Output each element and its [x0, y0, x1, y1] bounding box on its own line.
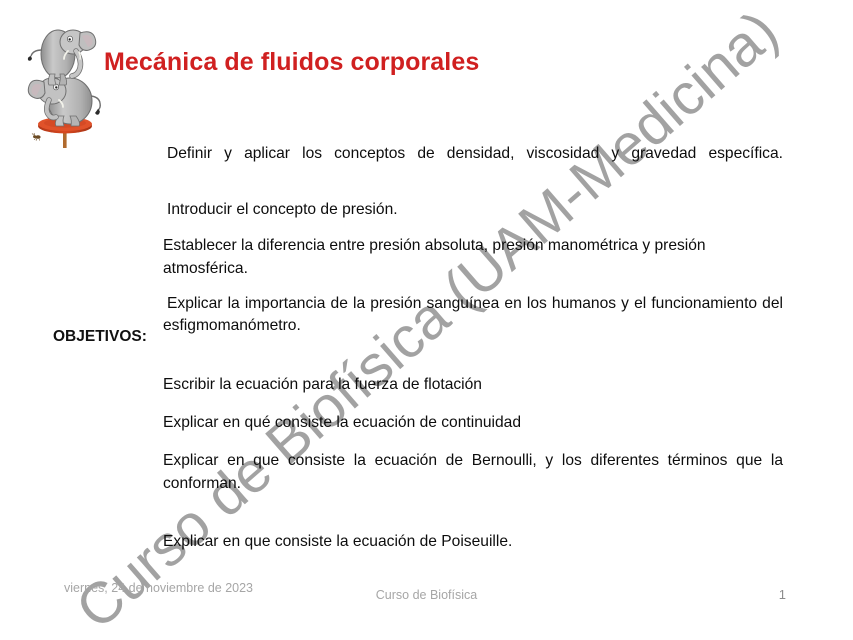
list-item: Establecer la diferencia entre presión a…: [163, 235, 783, 279]
two-elephants-balancing-icon: [16, 16, 116, 148]
objetivos-label: OBJETIVOS:: [53, 328, 147, 346]
list-item: Explicar en que consiste la ecuación de …: [163, 450, 783, 516]
list-item: Explicar la importancia de la presión sa…: [163, 293, 783, 359]
objectives-list: Definir y aplicar los conceptos de densi…: [163, 143, 783, 553]
footer-course-name: Curso de Biofísica: [0, 588, 853, 602]
list-item: Explicar en qué consiste la ecuación de …: [163, 412, 783, 434]
list-item: Explicar en que consiste la ecuación de …: [163, 531, 783, 553]
list-item: Definir y aplicar los conceptos de densi…: [163, 143, 783, 187]
list-item: Introducir el concepto de presión.: [163, 199, 783, 221]
list-item: Escribir la ecuación para la fuerza de f…: [163, 374, 783, 396]
slide-footer: viernes, 24 de noviembre de 2023 Curso d…: [0, 580, 853, 640]
page-title: Mecánica de fluidos corporales: [104, 48, 479, 77]
slide-canvas: Curso de Biofísica (UAM-Medicina) Mecáni…: [0, 0, 853, 640]
footer-page-number: 1: [779, 587, 786, 602]
ant-icon: [32, 133, 41, 141]
